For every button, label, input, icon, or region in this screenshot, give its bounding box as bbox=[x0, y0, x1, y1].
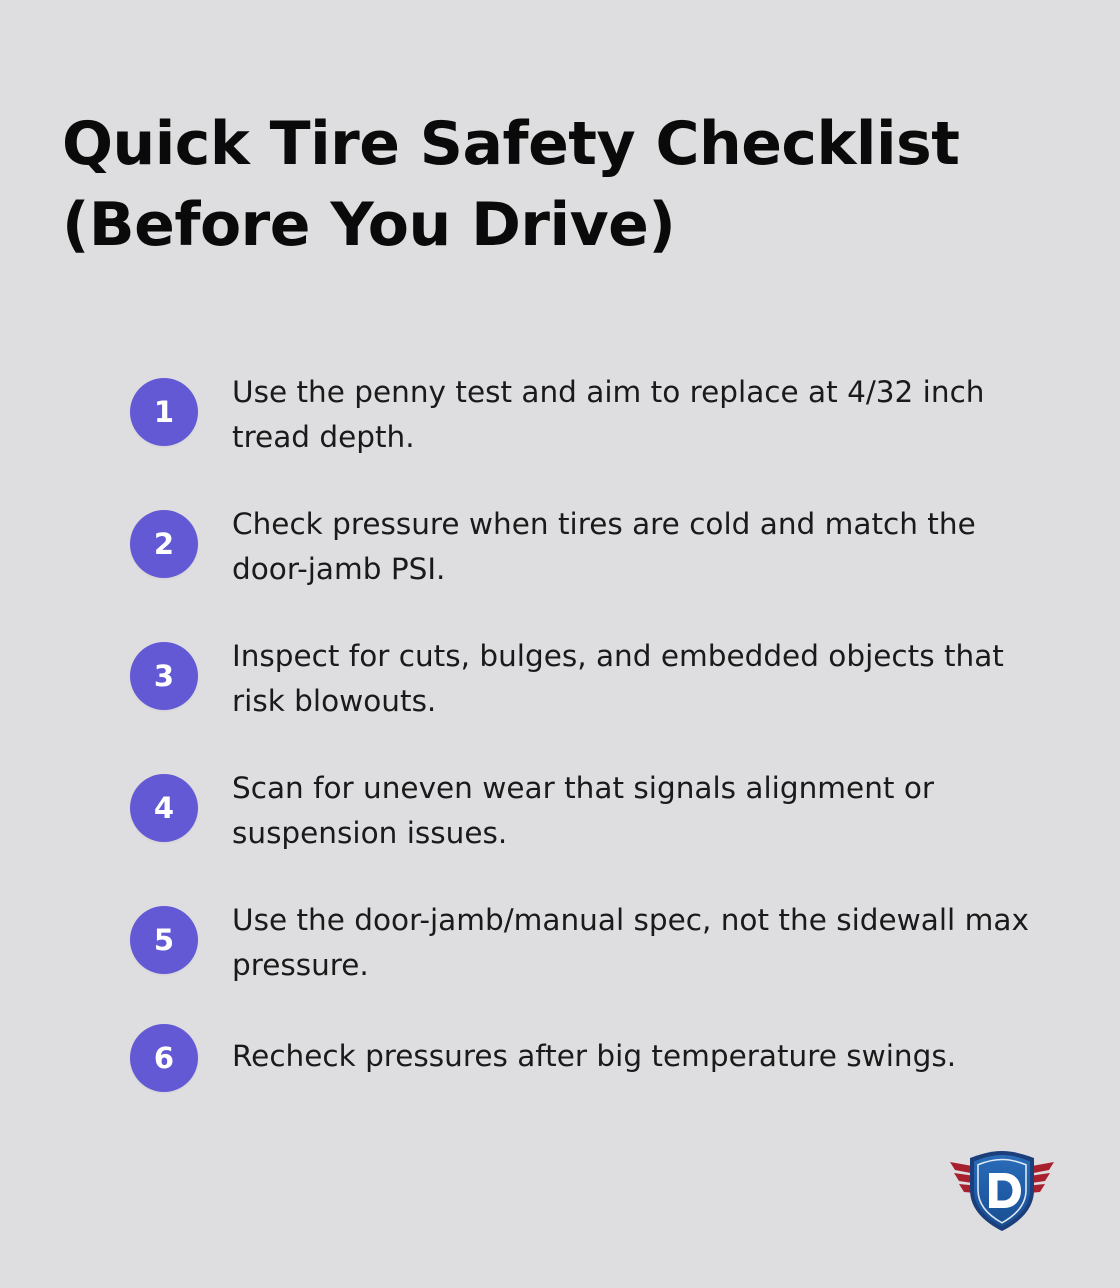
list-item: 5 Use the door-jamb/manual spec, not the… bbox=[130, 892, 1050, 988]
step-number-badge: 2 bbox=[130, 510, 198, 578]
winged-shield-logo bbox=[942, 1142, 1062, 1238]
page-title: Quick Tire Safety Checklist (Before You … bbox=[62, 104, 1042, 266]
step-number-badge: 1 bbox=[130, 378, 198, 446]
page-title-line-2: (Before You Drive) bbox=[62, 185, 1042, 266]
list-item: 4 Scan for uneven wear that signals alig… bbox=[130, 760, 1050, 856]
step-number-badge: 3 bbox=[130, 642, 198, 710]
infographic-page: Quick Tire Safety Checklist (Before You … bbox=[0, 0, 1120, 1288]
list-item-text: Use the penny test and aim to replace at… bbox=[232, 364, 1040, 460]
list-item-text: Inspect for cuts, bulges, and embedded o… bbox=[232, 628, 1040, 724]
list-item-text: Use the door-jamb/manual spec, not the s… bbox=[232, 892, 1040, 988]
list-item-text: Scan for uneven wear that signals alignm… bbox=[232, 760, 1040, 856]
list-item-text: Recheck pressures after big temperature … bbox=[232, 1024, 1040, 1079]
list-item: 2 Check pressure when tires are cold and… bbox=[130, 496, 1050, 592]
step-number-badge: 4 bbox=[130, 774, 198, 842]
list-item: 3 Inspect for cuts, bulges, and embedded… bbox=[130, 628, 1050, 724]
list-item-text: Check pressure when tires are cold and m… bbox=[232, 496, 1040, 592]
list-item: 6 Recheck pressures after big temperatur… bbox=[130, 1024, 1050, 1116]
checklist: 1 Use the penny test and aim to replace … bbox=[130, 364, 1050, 1116]
step-number-badge: 6 bbox=[130, 1024, 198, 1092]
step-number-badge: 5 bbox=[130, 906, 198, 974]
page-title-line-1: Quick Tire Safety Checklist bbox=[62, 104, 1042, 185]
list-item: 1 Use the penny test and aim to replace … bbox=[130, 364, 1050, 460]
